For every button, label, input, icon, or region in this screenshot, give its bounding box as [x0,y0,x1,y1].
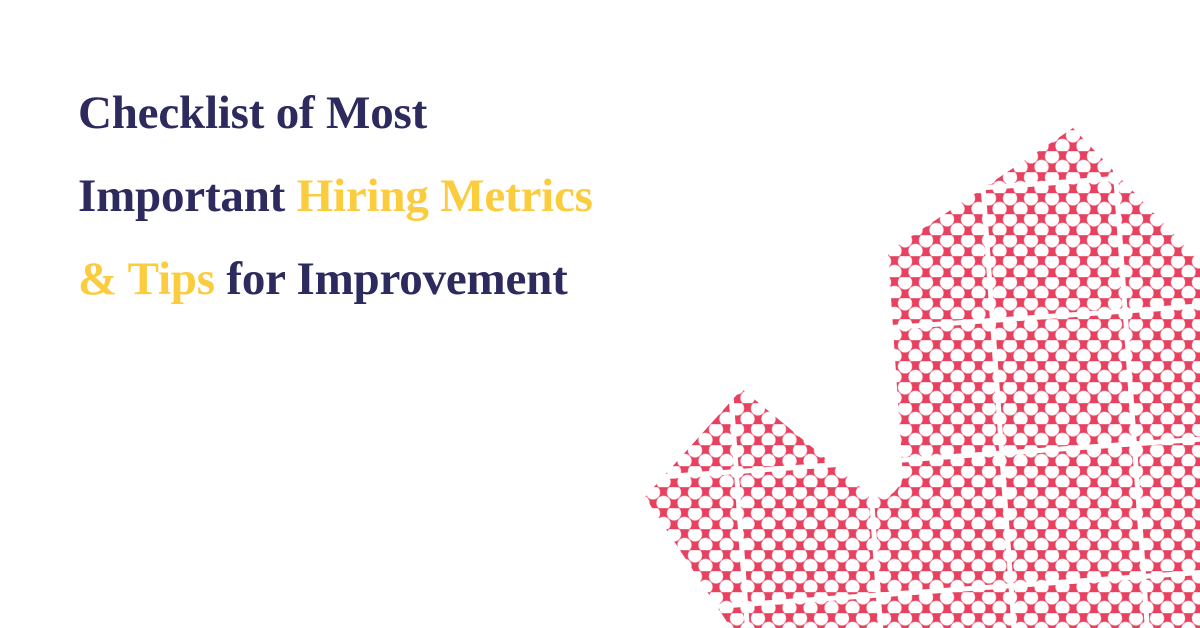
banner-canvas: Checklist of Most Important Hiring Metri… [0,0,1200,628]
headline-line-3-text-navy: for Improvement [226,253,567,305]
headline-line-1-text: Checklist of Most [78,87,427,139]
page-title: Checklist of Most Important Hiring Metri… [78,72,778,321]
headline-line-3: & Tips for Improvement [78,238,778,321]
headline-line-2-text-navy: Important [78,170,297,222]
headline-line-2: Important Hiring Metrics [78,155,778,238]
headline-line-2-text-gold: Hiring Metrics [297,170,593,222]
headline-line-3-text-gold: & Tips [78,253,226,305]
headline-line-1: Checklist of Most [78,72,778,155]
